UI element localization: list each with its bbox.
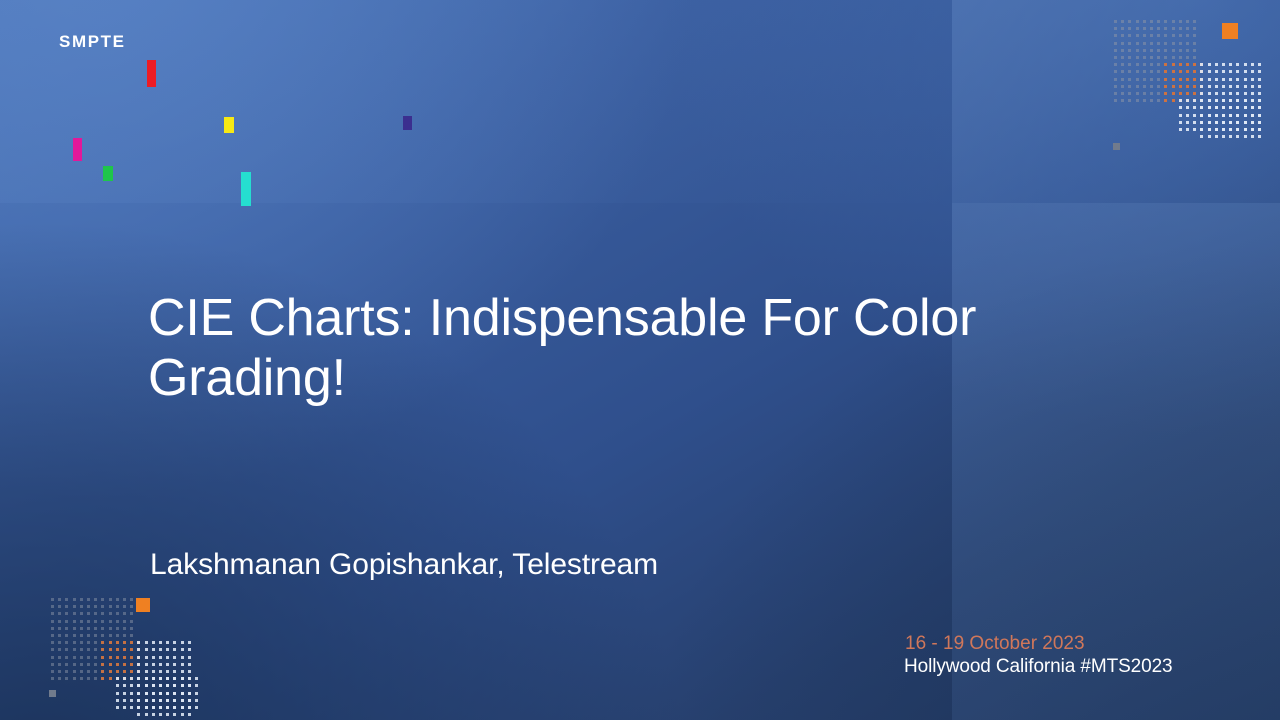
decorative-dot [1114,20,1117,23]
decorative-dot [101,612,104,615]
decorative-square-orange [136,598,150,612]
decorative-dot [123,699,126,702]
decorative-dot [1121,20,1124,23]
decorative-dot [152,699,155,702]
decorative-dot [130,627,133,630]
logo-line-summit-text: SUMMIT [57,175,268,227]
decorative-dot [1215,128,1218,131]
decorative-dot [1244,92,1247,95]
decorative-dot [166,648,169,651]
decorative-dot [1186,56,1189,59]
decorative-dot [116,699,119,702]
decorative-dot [1114,34,1117,37]
decorative-dot [58,627,61,630]
decorative-dot [1172,78,1175,81]
decorative-dot [1179,42,1182,45]
decorative-dot [1193,128,1196,131]
decorative-dot [137,641,140,644]
decorative-dot [1121,99,1124,102]
decorative-dot [1128,78,1131,81]
decorative-dot [1136,85,1139,88]
decorative-dot [1179,70,1182,73]
decorative-dot [1164,63,1167,66]
decorative-dot [80,656,83,659]
decorative-dot [1143,34,1146,37]
decorative-dot [1186,121,1189,124]
decorative-dot [80,620,83,623]
decorative-dot [1244,70,1247,73]
decorative-dot [123,627,126,630]
decorative-dot [1136,20,1139,23]
decorative-dot [1229,121,1232,124]
decorative-dot [1186,42,1189,45]
logo-line-media-text: MEDIA [57,59,227,111]
decorative-dot [1164,34,1167,37]
decorative-dot [51,612,54,615]
decorative-dot [1236,78,1239,81]
decorative-dot [1143,99,1146,102]
decorative-dot [188,692,191,695]
decorative-dot [1128,34,1131,37]
decorative-dot [1136,99,1139,102]
decorative-dot [1157,85,1160,88]
decorative-dot [1215,70,1218,73]
decorative-dot [1236,135,1239,138]
decorative-dot [145,641,148,644]
decorative-dot [1121,70,1124,73]
decorative-dot [173,663,176,666]
decorative-dot [1215,63,1218,66]
decorative-dot [188,713,191,716]
decorative-dot [1186,92,1189,95]
decorative-dot [80,677,83,680]
decorative-dot [51,663,54,666]
decorative-dot [1128,42,1131,45]
decorative-dot [1121,78,1124,81]
decorative-dot [101,641,104,644]
decorative-dot [1128,56,1131,59]
decorative-dot [1229,114,1232,117]
logo-line-technology: TECHNOLOGY [57,117,477,169]
decorative-dot [137,684,140,687]
decorative-dot [1150,49,1153,52]
decorative-dot [116,684,119,687]
decorative-dot [145,699,148,702]
decorative-dot [1114,63,1117,66]
decorative-dot [1236,114,1239,117]
decorative-dot [130,648,133,651]
decorative-dot [181,684,184,687]
decorative-dot [80,648,83,651]
decorative-dot [188,670,191,673]
decorative-dot [145,684,148,687]
decorative-dot [1121,85,1124,88]
decorative-dot [1150,20,1153,23]
decorative-dot [109,620,112,623]
decorative-dot [145,648,148,651]
decorative-dot [166,706,169,709]
decorative-dot [1136,56,1139,59]
decorative-dot [123,684,126,687]
decorative-dot [130,620,133,623]
decorative-dot [1136,63,1139,66]
decorative-dot [101,634,104,637]
decorative-dot [1208,135,1211,138]
decorative-dot [109,648,112,651]
decorative-dot [94,641,97,644]
decorative-dot [58,677,61,680]
decorative-dot [1143,49,1146,52]
decorative-dot [1222,78,1225,81]
decorative-dot [51,627,54,630]
decorative-dot [80,641,83,644]
decorative-dot [137,663,140,666]
logo-line-technology-text: TECHNOLOGY [57,117,431,169]
decorative-dot [137,656,140,659]
decorative-dot [1251,85,1254,88]
decorative-dot [1258,135,1261,138]
decorative-dot [1186,106,1189,109]
decorative-dot [1157,56,1160,59]
decorative-dot [166,663,169,666]
decorative-dot [1193,20,1196,23]
decorative-dot [1244,78,1247,81]
decorative-dot [101,677,104,680]
decorative-dot [1200,92,1203,95]
decorative-dot [152,670,155,673]
decorative-dot [1244,106,1247,109]
decorative-dot [159,663,162,666]
decorative-dot [1200,70,1203,73]
decorative-dot [1251,121,1254,124]
decorative-dot [130,677,133,680]
decorative-dot [116,648,119,651]
decorative-dot [109,634,112,637]
decorative-dot [123,598,126,601]
decorative-dot [123,605,126,608]
decorative-dot [152,677,155,680]
decorative-dot [87,612,90,615]
decorative-dot [58,663,61,666]
decorative-dot [1193,27,1196,30]
decorative-dot [145,670,148,673]
decorative-dot [1179,63,1182,66]
decorative-dot [195,677,198,680]
decorative-dot [1114,42,1117,45]
decorative-dot [65,641,68,644]
decorative-dot [51,656,54,659]
decorative-dot [1229,85,1232,88]
decorative-dot [130,684,133,687]
decorative-dot [1208,78,1211,81]
smpte-logo: SMPTE MEDIA TECHNOLOGY SUMMIT [57,33,477,218]
decorative-dot [73,612,76,615]
decorative-dot [1157,99,1160,102]
decorative-dot [94,605,97,608]
decorative-dot [116,663,119,666]
decorative-dot [94,598,97,601]
decorative-dot [80,670,83,673]
decorative-dot [1143,27,1146,30]
event-location: Hollywood California #MTS2023 [904,656,1173,678]
decorative-dot [1157,63,1160,66]
decorative-dot [1164,42,1167,45]
decorative-dot [1128,63,1131,66]
decorative-dot [1186,85,1189,88]
decorative-dot [159,670,162,673]
decorative-dot [51,641,54,644]
decorative-dot [101,620,104,623]
decorative-dot [1121,27,1124,30]
decorative-dot [1179,34,1182,37]
decorative-dot [1186,70,1189,73]
decorative-dot [58,634,61,637]
decorative-dot [195,692,198,695]
decorative-dot [1193,34,1196,37]
decorative-dot [130,670,133,673]
decorative-dot [181,713,184,716]
decorative-dot [65,677,68,680]
decorative-dot [159,684,162,687]
decorative-dot [109,677,112,680]
decorative-dot [1157,78,1160,81]
decorative-dot [123,612,126,615]
decorative-dot [130,598,133,601]
decorative-dot [159,706,162,709]
decorative-dot [1251,70,1254,73]
decorative-dot [51,648,54,651]
decorative-dot [80,634,83,637]
decorative-dot [58,656,61,659]
decorative-dot [1236,106,1239,109]
decorative-dot [1193,85,1196,88]
decorative-dot [109,598,112,601]
decorative-dot [1121,63,1124,66]
decorative-dot [116,627,119,630]
decorative-dot [1215,99,1218,102]
decorative-dot [188,656,191,659]
decorative-dot [1114,99,1117,102]
decorative-dot [73,620,76,623]
decorative-dot [1229,78,1232,81]
decorative-dot [145,656,148,659]
decorative-dot [94,656,97,659]
decorative-dot [1121,56,1124,59]
decorative-dot [1114,27,1117,30]
decorative-dot [1150,85,1153,88]
decorative-dot [1193,92,1196,95]
decorative-dot [1215,78,1218,81]
decorative-dot [1114,49,1117,52]
decorative-dot [116,641,119,644]
decorative-dot [1244,135,1247,138]
decorative-dot [94,670,97,673]
decorative-dot [65,598,68,601]
decorative-dot [159,713,162,716]
decorative-dot [1136,78,1139,81]
decorative-dot [1172,56,1175,59]
decorative-dot [123,670,126,673]
decorative-dot [1179,128,1182,131]
decorative-dot [1193,56,1196,59]
decorative-dot [166,699,169,702]
decorative-dot [173,677,176,680]
decorative-dot [80,663,83,666]
decorative-dot [1208,92,1211,95]
decorative-dot [1251,114,1254,117]
decorative-dot [1244,85,1247,88]
decorative-dot [1172,20,1175,23]
decorative-dot [1157,70,1160,73]
decorative-dot [166,713,169,716]
decorative-dot [73,670,76,673]
decorative-dot [1172,99,1175,102]
decorative-dot [152,663,155,666]
decorative-dot [116,656,119,659]
decorative-dot [87,648,90,651]
decorative-dot [1251,128,1254,131]
decorative-dot [94,634,97,637]
decorative-dot [1164,99,1167,102]
decorative-dot [1114,78,1117,81]
decorative-dot [1208,121,1211,124]
decorative-dot [101,605,104,608]
decorative-dot [1244,121,1247,124]
decorative-dot [188,641,191,644]
decorative-dot [1128,92,1131,95]
decorative-dot [65,663,68,666]
decorative-square-grey [49,690,56,697]
decorative-dot [65,656,68,659]
decorative-dot [1229,99,1232,102]
decorative-dot [1157,92,1160,95]
decorative-dot [1200,121,1203,124]
decorative-dot [1215,121,1218,124]
decorative-dot [51,634,54,637]
decorative-dot [1229,63,1232,66]
decorative-dot [1222,92,1225,95]
decorative-dot [181,648,184,651]
decorative-dot [65,605,68,608]
decorative-dot [1222,135,1225,138]
decorative-dot [1179,121,1182,124]
decorative-dot [73,648,76,651]
decorative-dot [1258,92,1261,95]
decorative-dot [1258,63,1261,66]
decorative-dot [1179,85,1182,88]
smpte-wordmark: SMPTE [59,33,477,50]
decorative-dot [159,641,162,644]
decorative-dot [73,627,76,630]
decorative-dot [1143,63,1146,66]
decorative-dot [1222,114,1225,117]
decorative-dot [101,663,104,666]
decorative-dot [94,677,97,680]
decorative-dot [1136,42,1139,45]
decorative-dot [137,692,140,695]
decorative-dot [1229,135,1232,138]
decorative-dot [1186,20,1189,23]
decorative-dot [1164,70,1167,73]
decorative-dot [1244,128,1247,131]
decorative-dot [1200,99,1203,102]
decorative-dot [1150,27,1153,30]
event-date: 16 - 19 October 2023 [905,633,1085,655]
decorative-dot [1143,78,1146,81]
decorative-dot [188,663,191,666]
decorative-dot [1143,20,1146,23]
decorative-dot [173,641,176,644]
decorative-dot [123,641,126,644]
decorative-dot [130,706,133,709]
decorative-dot [159,656,162,659]
decorative-dot [188,684,191,687]
decorative-dot [1179,114,1182,117]
decorative-dot [51,620,54,623]
decorative-dot [1128,20,1131,23]
logo-line-summit: SUMMIT [57,175,477,227]
decorative-dot [1164,92,1167,95]
decorative-dot [137,706,140,709]
decorative-dot [1136,92,1139,95]
decorative-square-orange [1222,23,1238,39]
decorative-dot [1136,70,1139,73]
decorative-dot [1200,63,1203,66]
decorative-dot [152,656,155,659]
decorative-dot [101,598,104,601]
decorative-dot [58,605,61,608]
decorative-dot [58,620,61,623]
decorative-dot [73,598,76,601]
decorative-dot [116,612,119,615]
decorative-dot [1172,63,1175,66]
decorative-dot [1244,114,1247,117]
decorative-dot [1172,92,1175,95]
decorative-dot [1143,70,1146,73]
decorative-dot [1193,42,1196,45]
decorative-dot [1172,49,1175,52]
decorative-dot [1157,20,1160,23]
decorative-dot [1222,121,1225,124]
decorative-dot [152,641,155,644]
decorative-dot [73,656,76,659]
decorative-dot [1143,42,1146,45]
logo-line-media: MEDIA [57,59,477,111]
decorative-dot [87,620,90,623]
decorative-dot [1222,128,1225,131]
decorative-dot [1150,34,1153,37]
decorative-dot [1236,85,1239,88]
decorative-dot [195,706,198,709]
decorative-dot [1222,85,1225,88]
decorative-dot [1244,99,1247,102]
decorative-dot [188,706,191,709]
decorative-dot [1172,85,1175,88]
decorative-dot [166,677,169,680]
decorative-dot [1186,49,1189,52]
decorative-dot [1215,106,1218,109]
decorative-dot [181,670,184,673]
decorative-dot [130,605,133,608]
decorative-dot [116,677,119,680]
decorative-dot [173,670,176,673]
decorative-dot [1200,78,1203,81]
decorative-dot [1128,85,1131,88]
decorative-dot [109,605,112,608]
decorative-dot [1244,63,1247,66]
decorative-dot [1251,135,1254,138]
decorative-dot [1121,49,1124,52]
